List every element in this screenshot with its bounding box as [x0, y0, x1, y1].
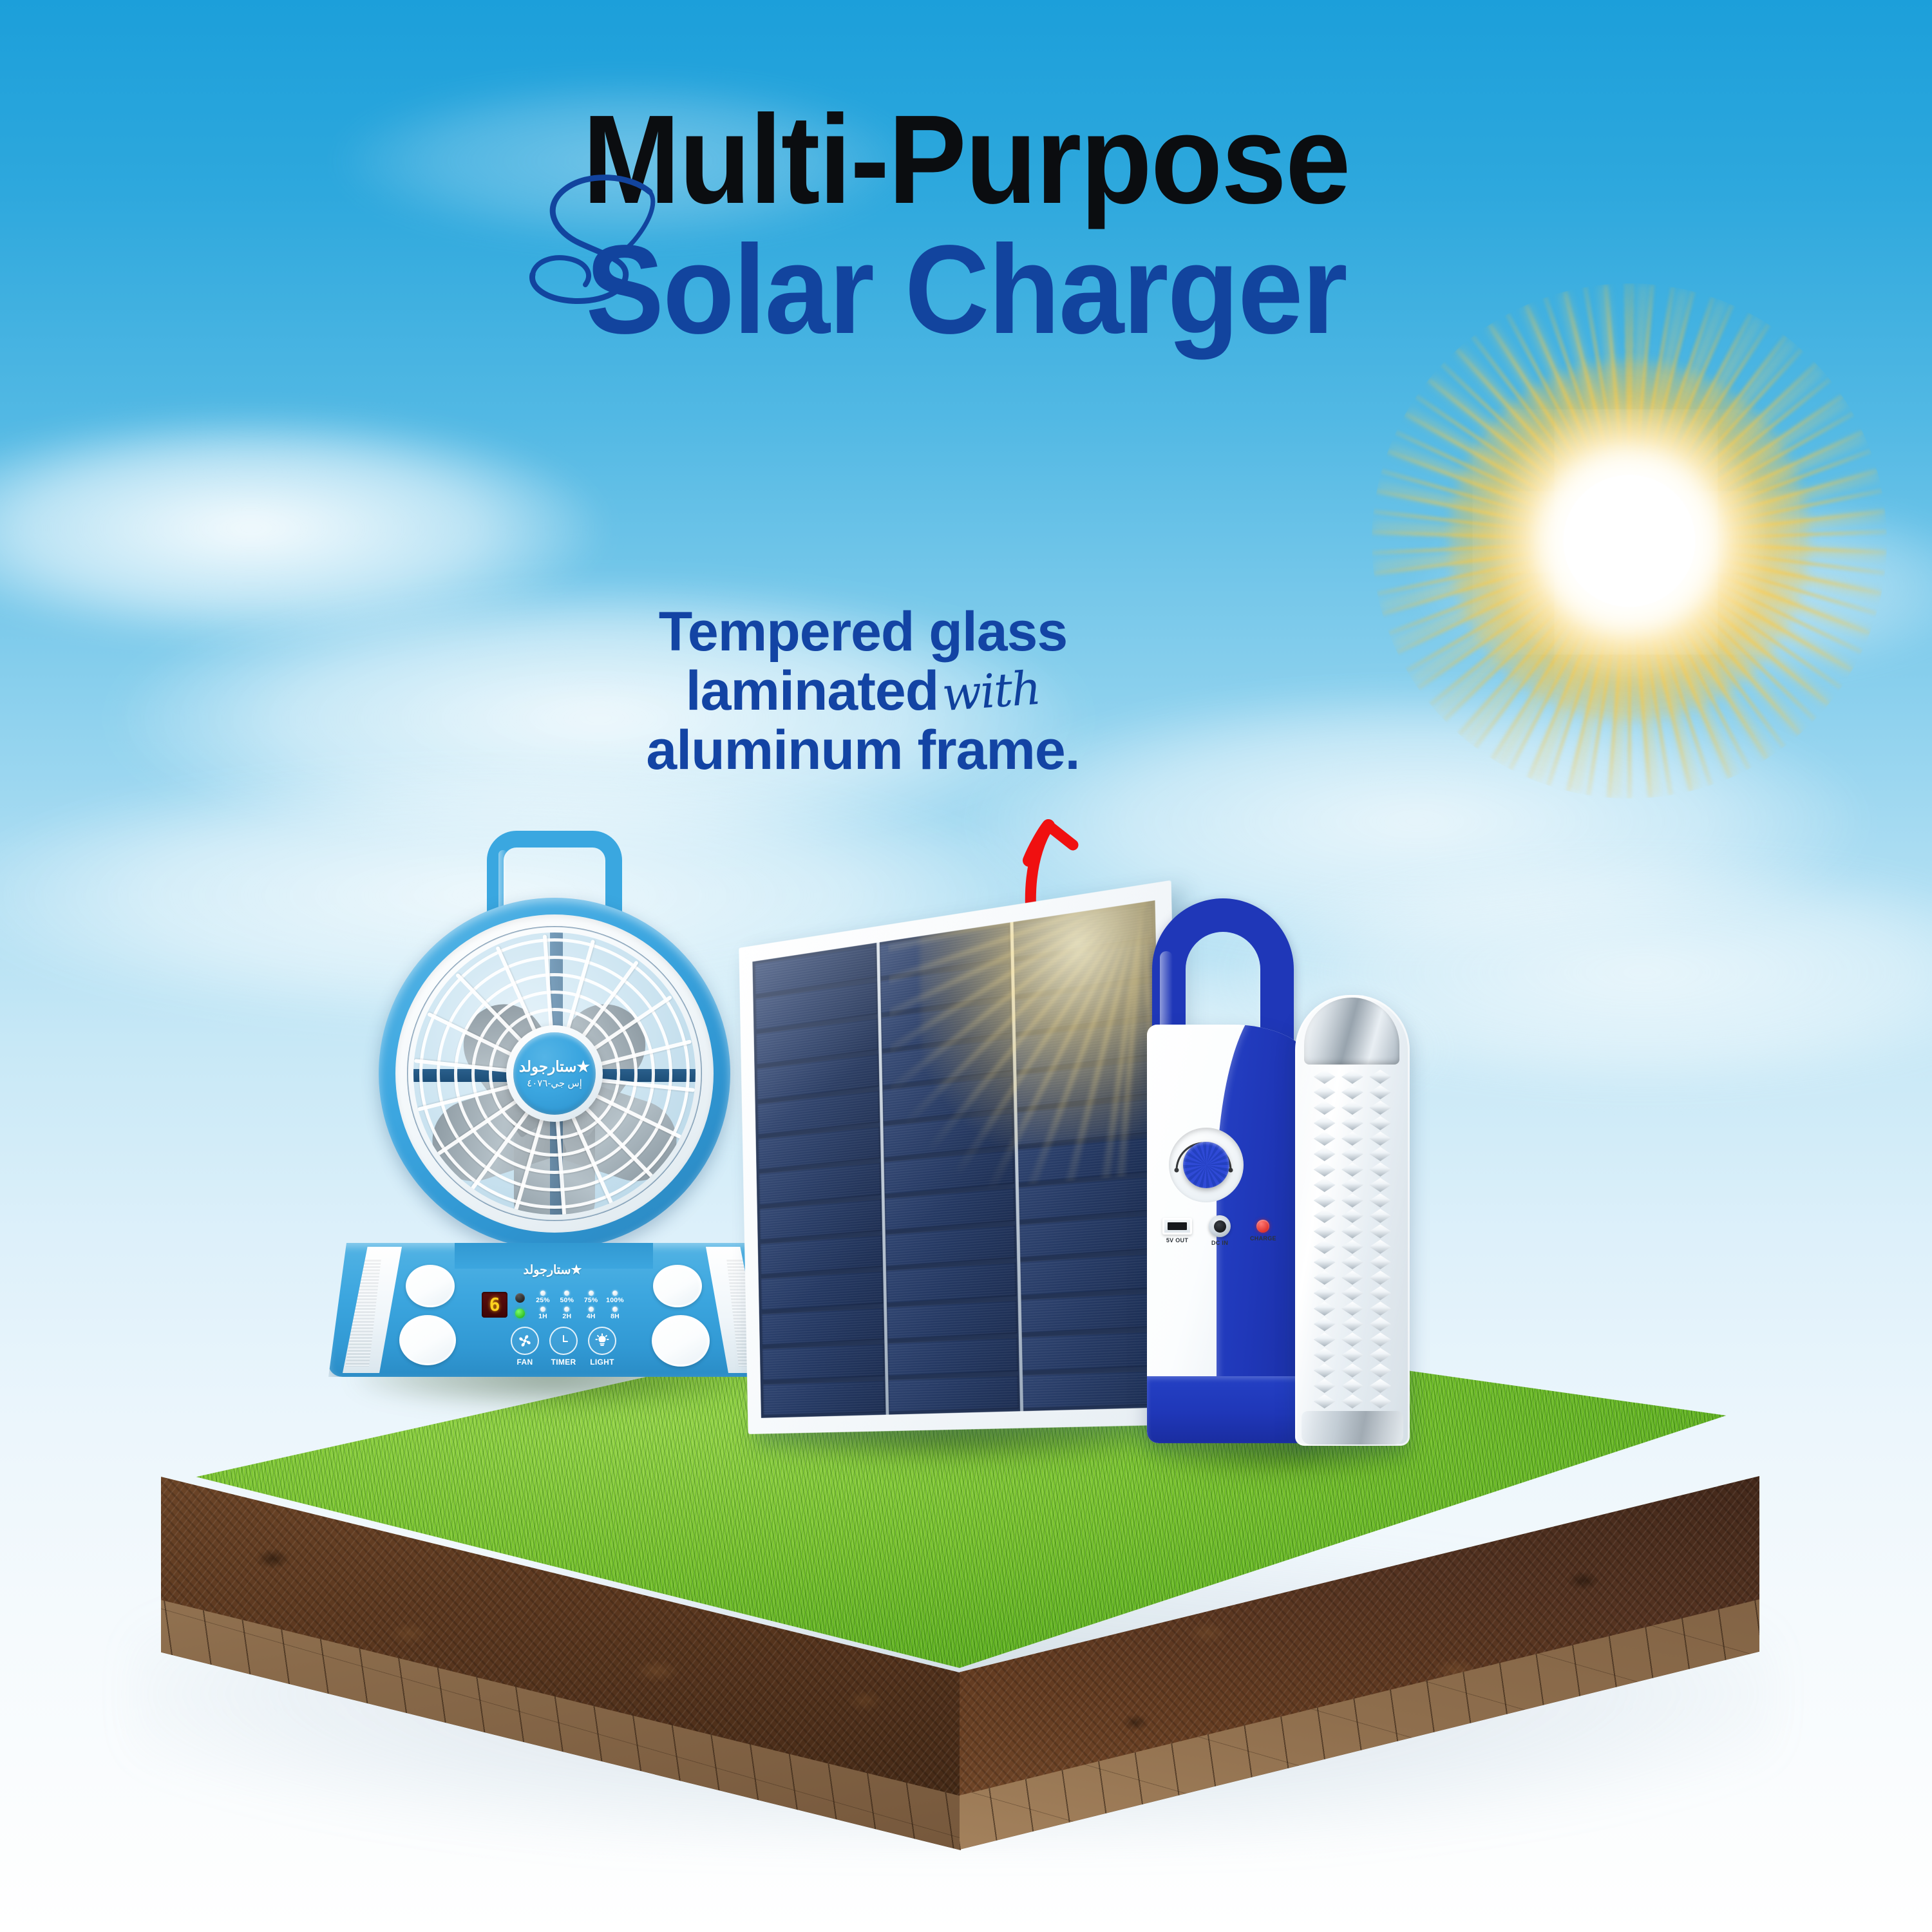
dc-input-port[interactable]: DC IN — [1209, 1215, 1231, 1246]
power-level-dot — [564, 1291, 569, 1296]
fan-button[interactable]: FAN — [510, 1327, 540, 1367]
light-button-label: LIGHT — [587, 1358, 617, 1367]
charge-led-label: CHARGE — [1250, 1235, 1276, 1242]
fan-indicator-grid: 25% 50% 75% 100% 1H 2H 4H — [532, 1291, 626, 1320]
power-level-dot — [589, 1291, 594, 1296]
usb-output-port[interactable]: 5V OUT — [1162, 1218, 1192, 1244]
charge-led-icon — [1256, 1220, 1269, 1233]
callout-line-2: laminated with — [580, 661, 1146, 721]
lantern-chrome-cap — [1304, 998, 1399, 1065]
timer-level-label: 1H — [532, 1313, 554, 1321]
callout-line-3: aluminum frame. — [580, 721, 1146, 780]
headline-line-2: Solar Charger — [585, 227, 1346, 353]
timer-level-dot — [612, 1307, 618, 1312]
power-level-labels-row: 25% 50% 75% 100% — [532, 1297, 626, 1305]
fan-control-panel[interactable]: 6 25% 50% 75% 100% — [482, 1291, 626, 1368]
power-level-dot — [612, 1291, 618, 1296]
timer-level-labels-row: 1H 2H 4H 8H — [532, 1313, 626, 1321]
fan-display-value: 6 — [489, 1296, 500, 1314]
fan-button-row: FAN TIMER — [510, 1327, 617, 1367]
rotary-dial-knob[interactable] — [1183, 1142, 1229, 1188]
timer-level-dot — [589, 1307, 594, 1312]
fan-blade-icon — [511, 1327, 539, 1355]
power-level-label: 75% — [580, 1297, 602, 1305]
light-bulb-icon — [588, 1327, 616, 1355]
solar-charger-poster: Multi-Purpose Solar Charger Tempered gla… — [0, 0, 1932, 1932]
usb-port-icon — [1162, 1218, 1192, 1235]
base-led-lamp[interactable] — [652, 1315, 710, 1367]
power-level-label: 50% — [556, 1297, 578, 1305]
fan-button-label: FAN — [510, 1358, 540, 1367]
solar-panel-frame — [739, 880, 1182, 1434]
dc-jack-icon — [1209, 1215, 1231, 1237]
lantern-base-foot — [1147, 1376, 1309, 1443]
fan-brand-label: ★ستارجولد — [519, 1059, 590, 1074]
lantern-led-array — [1312, 1070, 1393, 1405]
fan-vent-left — [345, 1258, 381, 1367]
fan-digital-display: 6 — [482, 1292, 507, 1318]
base-led-lamp[interactable] — [406, 1265, 455, 1307]
power-level-label: 25% — [532, 1297, 554, 1305]
lantern-body: 5V OUT DC IN CHARGE — [1147, 1025, 1309, 1443]
dc-port-label: DC IN — [1211, 1240, 1228, 1246]
fan-hub: ★ستارجولد إس جي-٤٠٧٦ — [506, 1025, 603, 1122]
usb-port-label: 5V OUT — [1166, 1237, 1188, 1244]
power-level-dot — [540, 1291, 545, 1296]
headline-line-1: Multi-Purpose — [68, 97, 1864, 223]
power-level-label: 100% — [604, 1297, 626, 1305]
fan-base-brand-label: ★ستارجولد — [524, 1263, 582, 1278]
solar-fan-product[interactable]: ★ستارجولد إس جي-٤٠٧٦ ★ستارجولد — [328, 831, 779, 1404]
page-title: Multi-Purpose Solar Charger — [0, 97, 1932, 353]
timer-button[interactable]: TIMER — [549, 1327, 578, 1367]
charge-indicator: CHARGE — [1250, 1220, 1276, 1242]
light-button[interactable]: LIGHT — [587, 1327, 617, 1367]
fan-base-brand-plate: ★ستارجولد — [488, 1253, 617, 1287]
timer-level-label: 4H — [580, 1313, 602, 1321]
callout-script-with: with — [940, 663, 1041, 719]
fan-base-side-left — [343, 1247, 402, 1373]
lantern-chrome-foot — [1302, 1411, 1403, 1444]
timer-level-label: 8H — [604, 1313, 626, 1321]
fan-head: ★ستارجولد إس جي-٤٠٧٦ — [379, 898, 730, 1249]
callout-line-1: Tempered glass — [580, 602, 1146, 661]
timer-level-label: 2H — [556, 1313, 578, 1321]
fan-base: ★ستارجولد 6 25% 50% — [328, 1243, 779, 1377]
callout-line-2-main: laminated — [686, 661, 938, 721]
fan-model-label: إس جي-٤٠٧٦ — [527, 1079, 582, 1088]
base-led-lamp[interactable] — [399, 1315, 456, 1365]
base-led-lamp[interactable] — [653, 1265, 702, 1307]
fan-cavity: ★ستارجولد إس جي-٤٠٧٦ — [413, 933, 696, 1215]
status-led-on-icon — [515, 1309, 525, 1318]
timer-button-label: TIMER — [549, 1358, 578, 1367]
timer-level-dot — [540, 1307, 545, 1312]
timer-level-dot — [564, 1307, 569, 1312]
fan-hub-face: ★ستارجولد إس جي-٤٠٧٦ — [513, 1032, 596, 1115]
sun-core — [1564, 475, 1696, 607]
solar-cell-array — [752, 900, 1166, 1418]
callout-text: Tempered glass laminated with aluminum f… — [580, 602, 1146, 780]
status-led-off-icon — [515, 1293, 525, 1303]
solar-lantern-product[interactable]: 5V OUT DC IN CHARGE — [1143, 898, 1439, 1459]
lantern-knob-recess — [1169, 1128, 1244, 1202]
headline-line-2-wrap: Solar Charger — [557, 227, 1375, 353]
timer-clock-icon — [549, 1327, 578, 1355]
lantern-led-panel — [1295, 995, 1410, 1446]
sun-icon — [1372, 283, 1887, 799]
